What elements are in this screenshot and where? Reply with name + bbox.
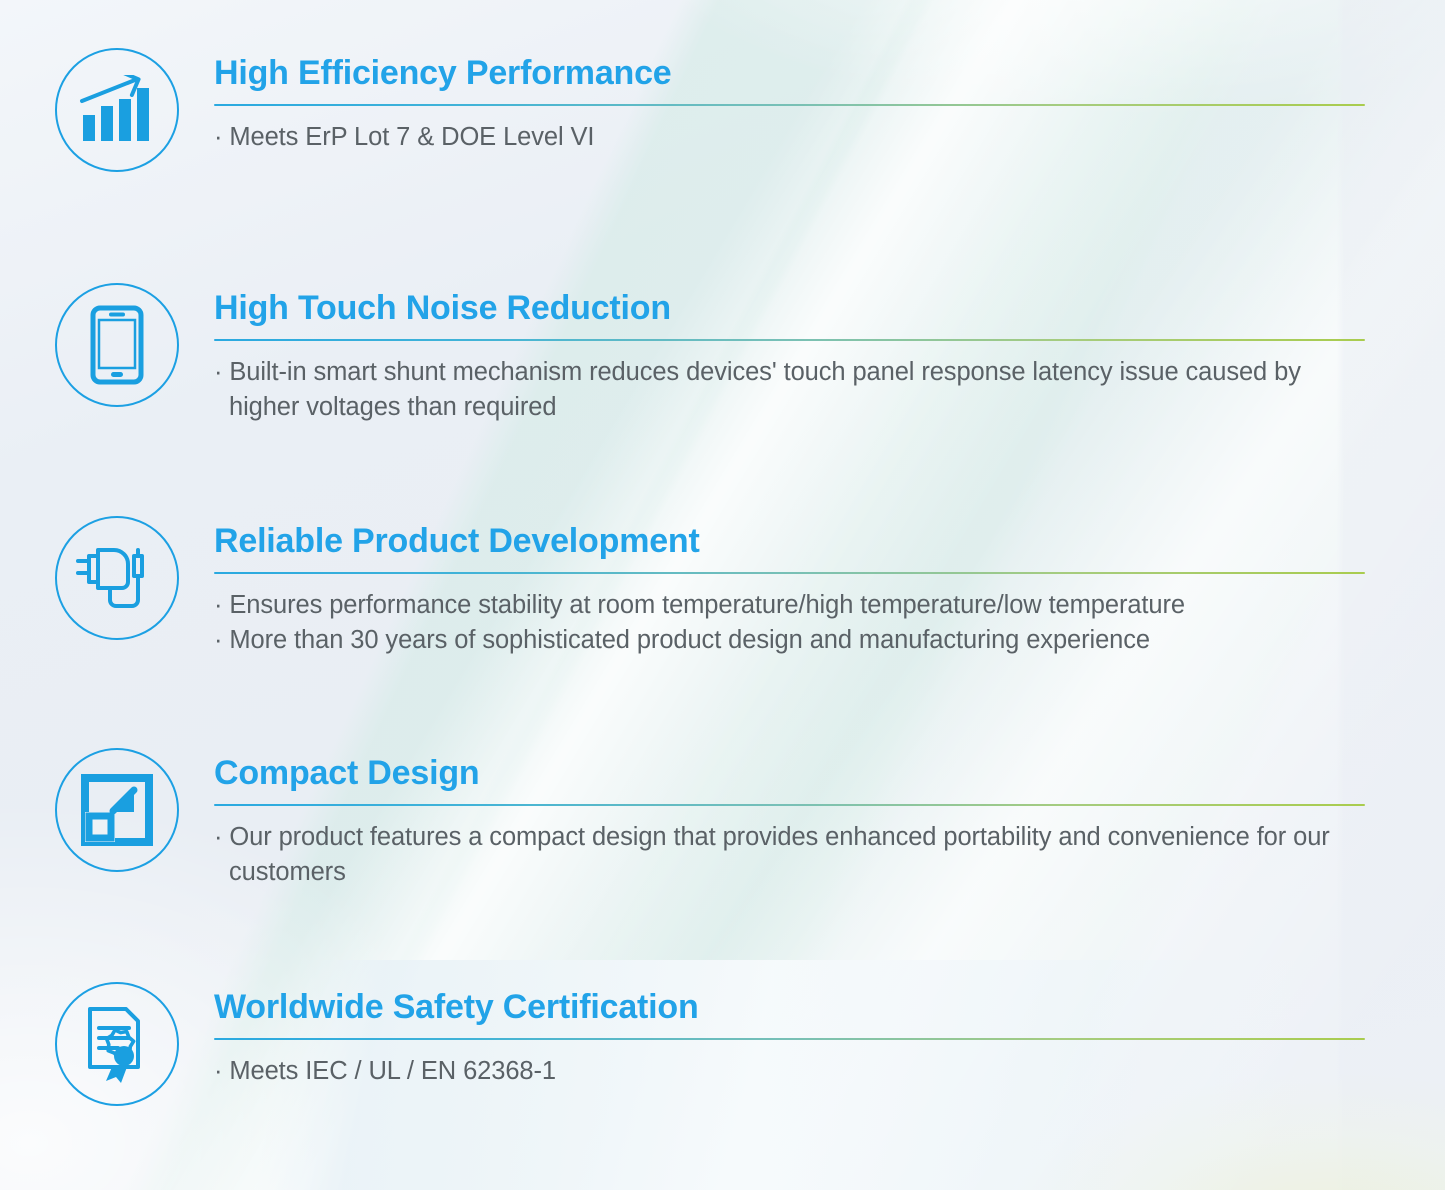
smartphone-icon (55, 283, 179, 407)
feature-list: High Efficiency Performance · Meets ErP … (0, 0, 1445, 1190)
feature-bullet: · Built-in smart shunt mechanism reduces… (214, 355, 1365, 425)
feature-item-high-touch-noise-reduction: High Touch Noise Reduction · Built-in sm… (55, 283, 1365, 426)
feature-bullets: · Meets ErP Lot 7 & DOE Level VI (214, 120, 1365, 155)
feature-body: Compact Design · Our product features a … (214, 748, 1365, 891)
feature-bullet: · More than 30 years of sophisticated pr… (214, 623, 1365, 658)
feature-bullet: · Meets ErP Lot 7 & DOE Level VI (214, 120, 1365, 155)
bar-chart-growth-icon (55, 48, 179, 172)
feature-underline (214, 339, 1365, 342)
feature-bullets: · Ensures performance stability at room … (214, 588, 1365, 658)
feature-bullet: · Our product features a compact design … (214, 820, 1365, 890)
feature-body: Reliable Product Development · Ensures p… (214, 516, 1365, 659)
power-adapter-icon (55, 516, 179, 640)
feature-item-worldwide-safety-certification: Worldwide Safety Certification · Meets I… (55, 982, 1365, 1106)
feature-title: Compact Design (214, 756, 1365, 792)
feature-title: High Touch Noise Reduction (214, 291, 1365, 327)
feature-title: Worldwide Safety Certification (214, 990, 1365, 1026)
feature-bullets: · Our product features a compact design … (214, 820, 1365, 890)
feature-item-high-efficiency-performance: High Efficiency Performance · Meets ErP … (55, 48, 1365, 172)
compact-resize-icon (55, 748, 179, 872)
feature-title: High Efficiency Performance (214, 56, 1365, 92)
certificate-seal-icon (55, 982, 179, 1106)
feature-body: High Efficiency Performance · Meets ErP … (214, 48, 1365, 155)
feature-underline (214, 1038, 1365, 1041)
feature-underline (214, 572, 1365, 575)
feature-bullet: · Ensures performance stability at room … (214, 588, 1365, 623)
feature-bullets: · Built-in smart shunt mechanism reduces… (214, 355, 1365, 425)
feature-item-reliable-product-development: Reliable Product Development · Ensures p… (55, 516, 1365, 659)
feature-item-compact-design: Compact Design · Our product features a … (55, 748, 1365, 891)
feature-bullets: · Meets IEC / UL / EN 62368-1 (214, 1054, 1365, 1089)
feature-underline (214, 804, 1365, 807)
feature-title: Reliable Product Development (214, 524, 1365, 560)
feature-body: Worldwide Safety Certification · Meets I… (214, 982, 1365, 1089)
feature-bullet: · Meets IEC / UL / EN 62368-1 (214, 1054, 1365, 1089)
feature-body: High Touch Noise Reduction · Built-in sm… (214, 283, 1365, 426)
feature-underline (214, 104, 1365, 107)
